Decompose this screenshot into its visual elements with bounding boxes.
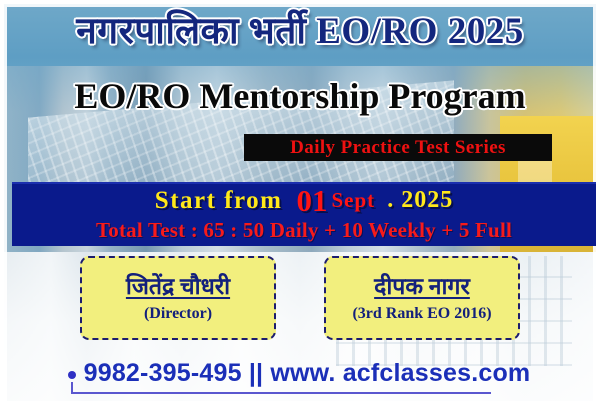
practice-test-label: Daily Practice Test Series [290,137,506,159]
start-date-line: Start from 01 Sept . 2025 [12,184,596,217]
headline-hindi: नगरपालिका भर्ती EO/RO 2025 [4,8,596,56]
person-card: जितेंद्र चौधरी (Director) [80,256,276,340]
start-from-label: Start from [155,187,283,215]
contact-bar: 9982-395-495 || www. acfclasses.com [4,359,596,394]
person-role: (Director) [144,304,212,324]
person-name: दीपक नागर [374,272,470,302]
promotional-banner: नगरपालिका भर्ती EO/RO 2025 EO/RO Mentors… [0,0,600,408]
program-title: EO/RO Mentorship Program [4,74,596,118]
practice-test-strip: Daily Practice Test Series [244,134,552,161]
people-cards: जितेंद्र चौधरी (Director) दीपक नागर (3rd… [4,256,596,340]
total-tests-label: Total Test : 65 : 50 Daily + 10 Weekly +… [12,215,596,245]
contact-underline-rule [71,392,491,394]
person-card: दीपक नागर (3rd Rank EO 2016) [324,256,520,340]
start-month: Sept [332,188,376,213]
person-name: जितेंद्र चौधरी [126,272,230,302]
start-day: 01 [297,183,328,219]
bullet-icon [68,371,76,379]
person-role: (3rd Rank EO 2016) [352,304,491,324]
contact-inner: 9982-395-495 || www. acfclasses.com [66,359,535,394]
start-year: . 2025 [387,187,453,214]
schedule-band: Start from 01 Sept . 2025 Total Test : 6… [12,182,596,246]
contact-details[interactable]: 9982-395-495 || www. acfclasses.com [84,359,531,388]
